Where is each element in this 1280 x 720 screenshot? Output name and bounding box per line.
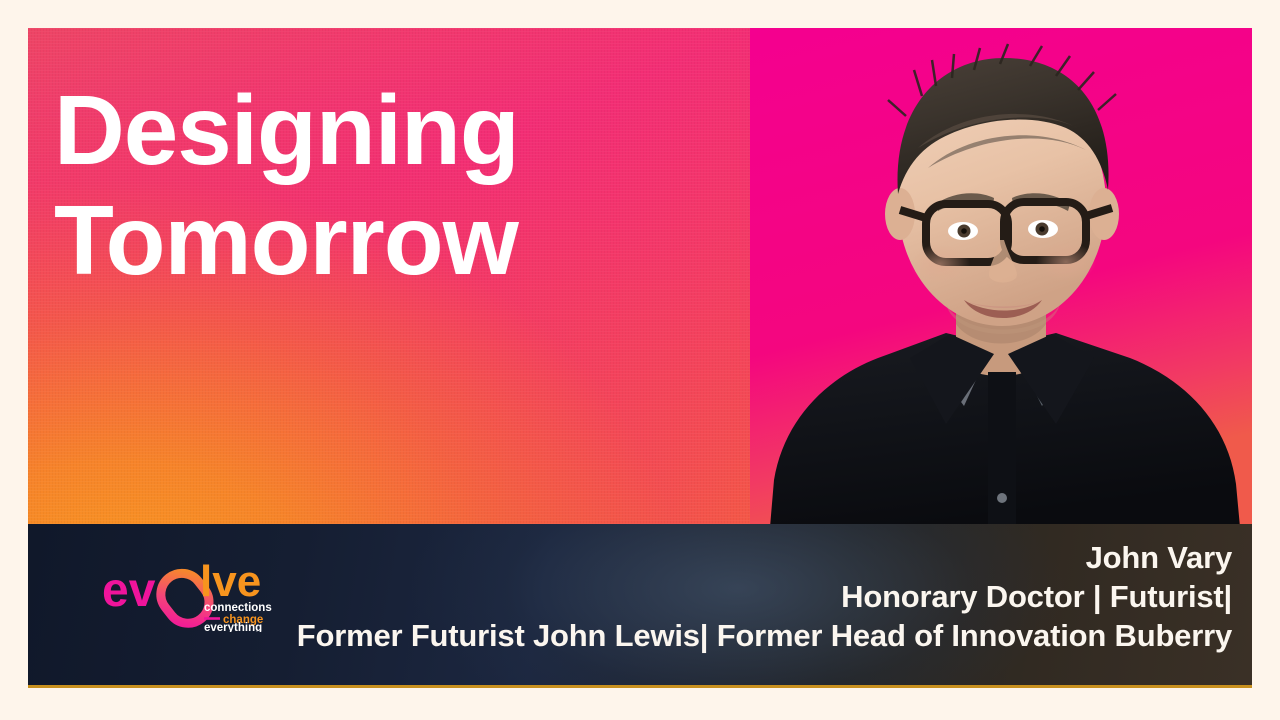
footer-bar: ev lve connections change everything Joh… [28,524,1252,685]
title-line-1: Designing [54,76,694,186]
logo-tagline-everything: everything [204,622,262,632]
logo-text-ev: ev [102,564,156,617]
title-line-2: Tomorrow [54,186,694,296]
logo-text-lve: lve [200,557,261,606]
speaker-photo [750,28,1252,527]
page-title: Designing Tomorrow [54,76,694,296]
logo-tagline-connections: connections [204,602,272,614]
speaker-history: Former Futurist John Lewis| Former Head … [272,616,1232,655]
speaker-name: John Vary [272,538,1232,577]
speaker-role: Honorary Doctor | Futurist| [272,577,1232,616]
speaker-info: John Vary Honorary Doctor | Futurist| Fo… [272,538,1232,655]
slide-card: Designing Tomorrow [28,28,1252,688]
speaker-portrait-illustration [750,28,1252,527]
